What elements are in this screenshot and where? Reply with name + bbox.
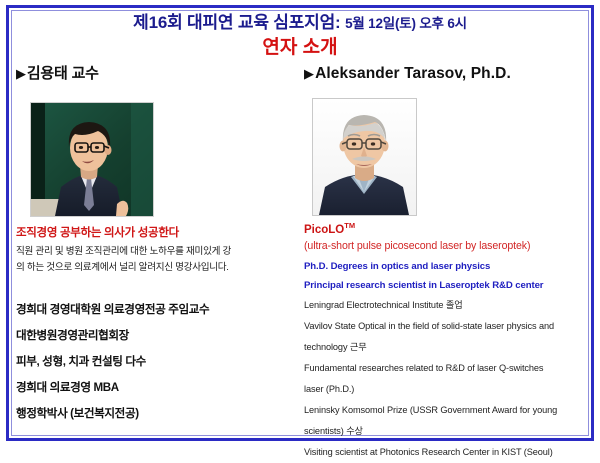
slide-title-main: 제16회 대피연 교육 심포지엄: 5월 12일(토) 오후 6시 bbox=[16, 12, 584, 35]
speaker-photo-left bbox=[30, 102, 154, 217]
cv-line: laser (Ph.D.) bbox=[304, 379, 590, 400]
slide-title-text: 제16회 대피연 교육 심포지엄: bbox=[133, 13, 340, 32]
product-description: (ultra-short pulse picosecond laser by l… bbox=[304, 238, 590, 255]
speaker-photo-left-image bbox=[31, 103, 153, 216]
left-description-line: 직원 관리 및 병원 조직관리에 대한 노하우를 재미있게 강 bbox=[16, 244, 292, 260]
cv-line: Vavilov State Optical in the field of so… bbox=[304, 316, 590, 337]
left-red-headline: 조직경영 공부하는 의사가 성공한다 bbox=[16, 225, 294, 241]
triangle-marker-icon: ▶ bbox=[16, 66, 26, 81]
slide-title-block: 제16회 대피연 교육 심포지엄: 5월 12일(토) 오후 6시 연자 소개 bbox=[16, 12, 584, 60]
speaker-name-left: ▶김용태 교수 bbox=[16, 64, 296, 84]
list-item: 경희대 경영대학원 의료경영전공 주임교수 bbox=[16, 297, 294, 323]
list-item: 대한병원경영관리협회장 bbox=[16, 323, 294, 349]
left-credentials-list: 경희대 경영대학원 의료경영전공 주임교수 대한병원경영관리협회장 피부, 성형… bbox=[16, 297, 294, 427]
cv-line: technology 근무 bbox=[304, 337, 590, 358]
speaker-photo-right-image bbox=[313, 99, 416, 215]
speaker-panel-left: ▶김용태 교수 bbox=[16, 64, 296, 436]
slide-title-date: 5월 12일(토) 오후 6시 bbox=[345, 16, 467, 31]
cv-line: Leninsky Komsomol Prize (USSR Government… bbox=[304, 400, 590, 421]
trademark-symbol: TM bbox=[344, 221, 355, 230]
speaker-name-right: ▶Aleksander Tarasov, Ph.D. bbox=[304, 64, 584, 84]
right-bio-block: PicoLOTM (ultra-short pulse picosecond l… bbox=[304, 218, 590, 463]
slide-subtitle: 연자 소개 bbox=[16, 36, 584, 60]
product-name-text: PicoLO bbox=[304, 224, 344, 236]
cv-line: scientists) 수상 bbox=[304, 421, 590, 442]
speaker-name-right-label: Aleksander Tarasov, Ph.D. bbox=[315, 65, 511, 82]
product-name: PicoLOTM bbox=[304, 218, 590, 238]
left-description-line: 의 하는 것으로 의료계에서 널리 알려지신 명강사입니다. bbox=[16, 260, 292, 276]
list-item: 행정학박사 (보건복지전공) bbox=[16, 401, 294, 427]
list-item: 피부, 성형, 치과 컨설팅 다수 bbox=[16, 349, 294, 375]
cv-line: Leningrad Electrotechnical Institute 졸업 bbox=[304, 295, 590, 316]
speakers-container: ▶김용태 교수 bbox=[16, 64, 584, 436]
speaker-name-left-label: 김용태 교수 bbox=[27, 65, 99, 82]
triangle-marker-icon: ▶ bbox=[304, 66, 314, 81]
highlight-line: Principal research scientist in Laseropt… bbox=[304, 276, 590, 295]
cv-line: Fundamental researches related to R&D of… bbox=[304, 358, 590, 379]
list-item: 경희대 의료경영 MBA bbox=[16, 375, 294, 401]
cv-line: Visiting scientist at Photonics Research… bbox=[304, 442, 590, 463]
presentation-slide: 제16회 대피연 교육 심포지엄: 5월 12일(토) 오후 6시 연자 소개 … bbox=[0, 0, 600, 453]
speaker-panel-right: ▶Aleksander Tarasov, Ph.D. bbox=[304, 64, 584, 436]
left-description: 직원 관리 및 병원 조직관리에 대한 노하우를 재미있게 강 의 하는 것으로… bbox=[16, 244, 292, 275]
highlight-line: Ph.D. Degrees in optics and laser physic… bbox=[304, 257, 590, 276]
speaker-photo-right bbox=[312, 98, 417, 216]
